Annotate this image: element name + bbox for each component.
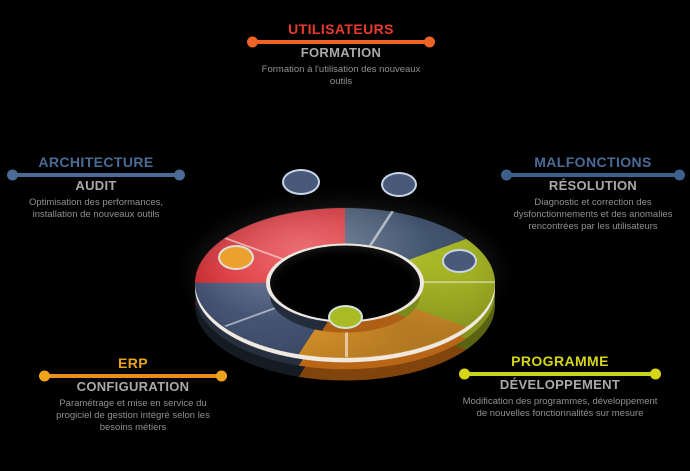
infographic-canvas: UTILISATEURS FORMATION Formation à l'uti… <box>0 0 690 471</box>
puzzle-knob-right <box>442 249 477 273</box>
callout-architecture-keyword: ARCHITECTURE <box>10 155 182 170</box>
callout-architecture-rule <box>10 173 182 177</box>
callout-malfunctions-subtitle: RÉSOLUTION <box>504 179 682 194</box>
callout-architecture-body: Optimisation des performances, installat… <box>10 197 182 221</box>
callout-erp-body: Paramétrage et mise en service du progic… <box>42 398 224 434</box>
callout-program[interactable]: PROGRAMME DÉVELOPPEMENT Modification des… <box>462 354 658 420</box>
callout-erp-rule <box>42 374 224 378</box>
callout-users-rule <box>250 40 432 44</box>
callout-erp-subtitle: CONFIGURATION <box>42 380 224 395</box>
callout-users-body: Formation à l'utilisation des nouveaux o… <box>250 64 432 88</box>
callout-malfunctions-rule <box>504 173 682 177</box>
callout-malfunctions-body: Diagnostic et correction des dysfonction… <box>504 197 682 233</box>
puzzle-knob-bottom <box>328 305 363 329</box>
callout-erp-keyword: ERP <box>42 356 224 371</box>
puzzle-knob-top-left <box>282 169 320 195</box>
callout-malfunctions[interactable]: MALFONCTIONS RÉSOLUTION Diagnostic et co… <box>504 155 682 233</box>
callout-program-body: Modification des programmes, développeme… <box>462 396 658 420</box>
callout-architecture-subtitle: AUDIT <box>10 179 182 194</box>
callout-users-keyword: UTILISATEURS <box>250 22 432 37</box>
puzzle-knob-left <box>218 245 254 270</box>
callout-architecture[interactable]: ARCHITECTURE AUDIT Optimisation des perf… <box>10 155 182 221</box>
puzzle-donut-diagram <box>165 115 525 365</box>
callout-program-subtitle: DÉVELOPPEMENT <box>462 378 658 393</box>
callout-users[interactable]: UTILISATEURS FORMATION Formation à l'uti… <box>250 22 432 88</box>
callout-users-subtitle: FORMATION <box>250 46 432 61</box>
callout-malfunctions-keyword: MALFONCTIONS <box>504 155 682 170</box>
puzzle-knob-top-right <box>381 172 417 197</box>
callout-program-keyword: PROGRAMME <box>462 354 658 369</box>
callout-program-rule <box>462 372 658 376</box>
callout-erp[interactable]: ERP CONFIGURATION Paramétrage et mise en… <box>42 356 224 434</box>
